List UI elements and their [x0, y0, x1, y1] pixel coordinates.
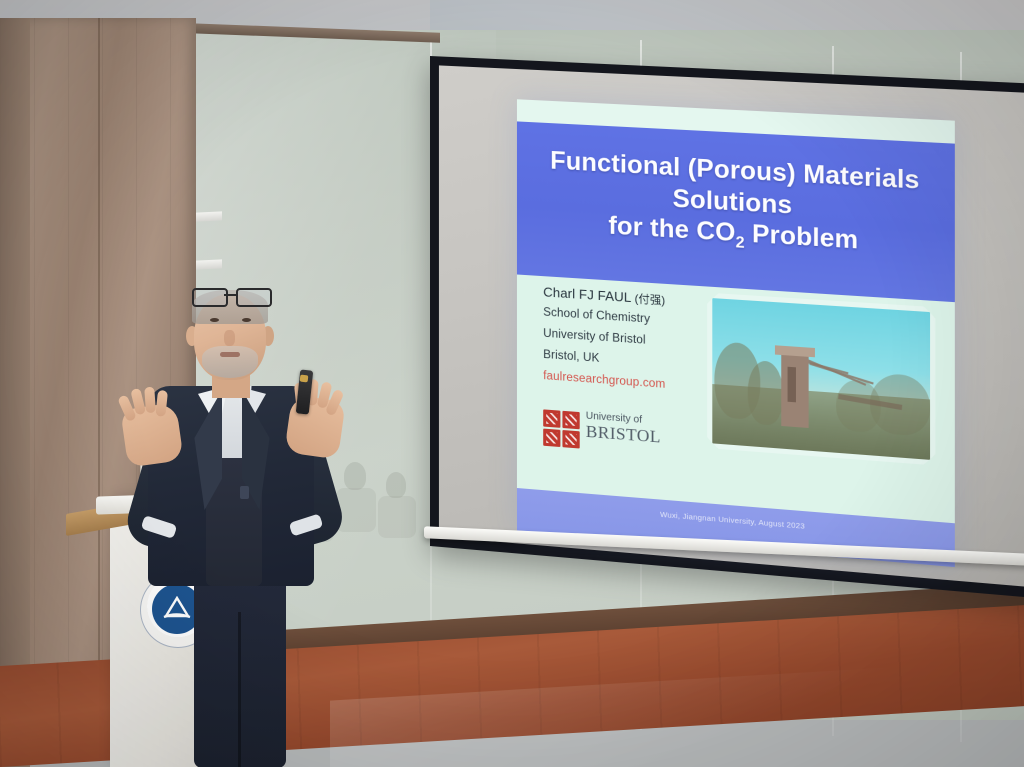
eye	[242, 318, 251, 322]
screen-surface: Functional (Porous) Materials Solutions …	[439, 65, 1024, 587]
wall-bracket	[196, 259, 222, 269]
tree	[748, 360, 784, 426]
glasses-lens	[236, 288, 272, 307]
crest-quarter	[543, 429, 560, 447]
slide-title-subscript: 2	[736, 234, 745, 252]
audience-reflection	[386, 472, 406, 498]
presenter-beard	[202, 346, 258, 378]
clifton-bridge-photo	[707, 293, 935, 466]
glasses-lens	[192, 288, 228, 307]
wall-bracket	[196, 211, 222, 221]
bridge-photo-inner	[712, 298, 930, 460]
presenter-affiliation-1: School of Chemistry	[543, 306, 650, 325]
slide-title-line2-post: Problem	[745, 219, 859, 255]
slide-body: Charl FJ FAUL (付强) School of Chemistry U…	[517, 274, 955, 523]
presenter-name-chinese: (付强)	[635, 293, 666, 307]
presenter-affiliation-2: University of Bristol	[543, 328, 645, 347]
presenter-name: Charl FJ FAUL (付强)	[543, 284, 665, 308]
wood-panel-edge	[0, 18, 30, 767]
bridge-cable	[809, 363, 873, 385]
presenter-figure	[120, 282, 350, 767]
bristol-crest-icon	[543, 409, 580, 448]
lapel-badge	[240, 486, 249, 499]
presenter-url: faulresearchgroup.com	[543, 370, 665, 391]
bridge-tower-arch	[788, 367, 796, 403]
slide-title-line2-pre: for the CO	[608, 211, 735, 247]
photo-scene: Functional (Porous) Materials Solutions …	[0, 0, 1024, 767]
finger	[144, 387, 156, 414]
presenter-name-text: Charl FJ FAUL	[543, 284, 631, 305]
university-of-bristol-logo: University of BRISTOL	[543, 407, 686, 458]
nose	[224, 330, 235, 346]
projection-screen: Functional (Porous) Materials Solutions …	[430, 56, 1024, 599]
audience-reflection	[378, 496, 416, 538]
bristol-line-big: BRISTOL	[586, 422, 661, 446]
bristol-wordmark: University of BRISTOL	[586, 412, 661, 446]
crest-quarter	[543, 409, 560, 427]
presenter-right-hand	[284, 395, 346, 460]
eye	[210, 318, 219, 322]
presenter-leg-split	[238, 612, 241, 767]
crest-quarter	[562, 430, 579, 449]
glasses-icon	[192, 288, 270, 304]
mouth	[220, 352, 240, 357]
crest-quarter	[562, 411, 579, 429]
finger	[155, 390, 168, 417]
presenter-affiliation-3: Bristol, UK	[543, 349, 599, 365]
presentation-slide: Functional (Porous) Materials Solutions …	[517, 99, 955, 567]
clicker-button[interactable]	[300, 375, 309, 383]
presenter-left-hand	[120, 402, 184, 467]
